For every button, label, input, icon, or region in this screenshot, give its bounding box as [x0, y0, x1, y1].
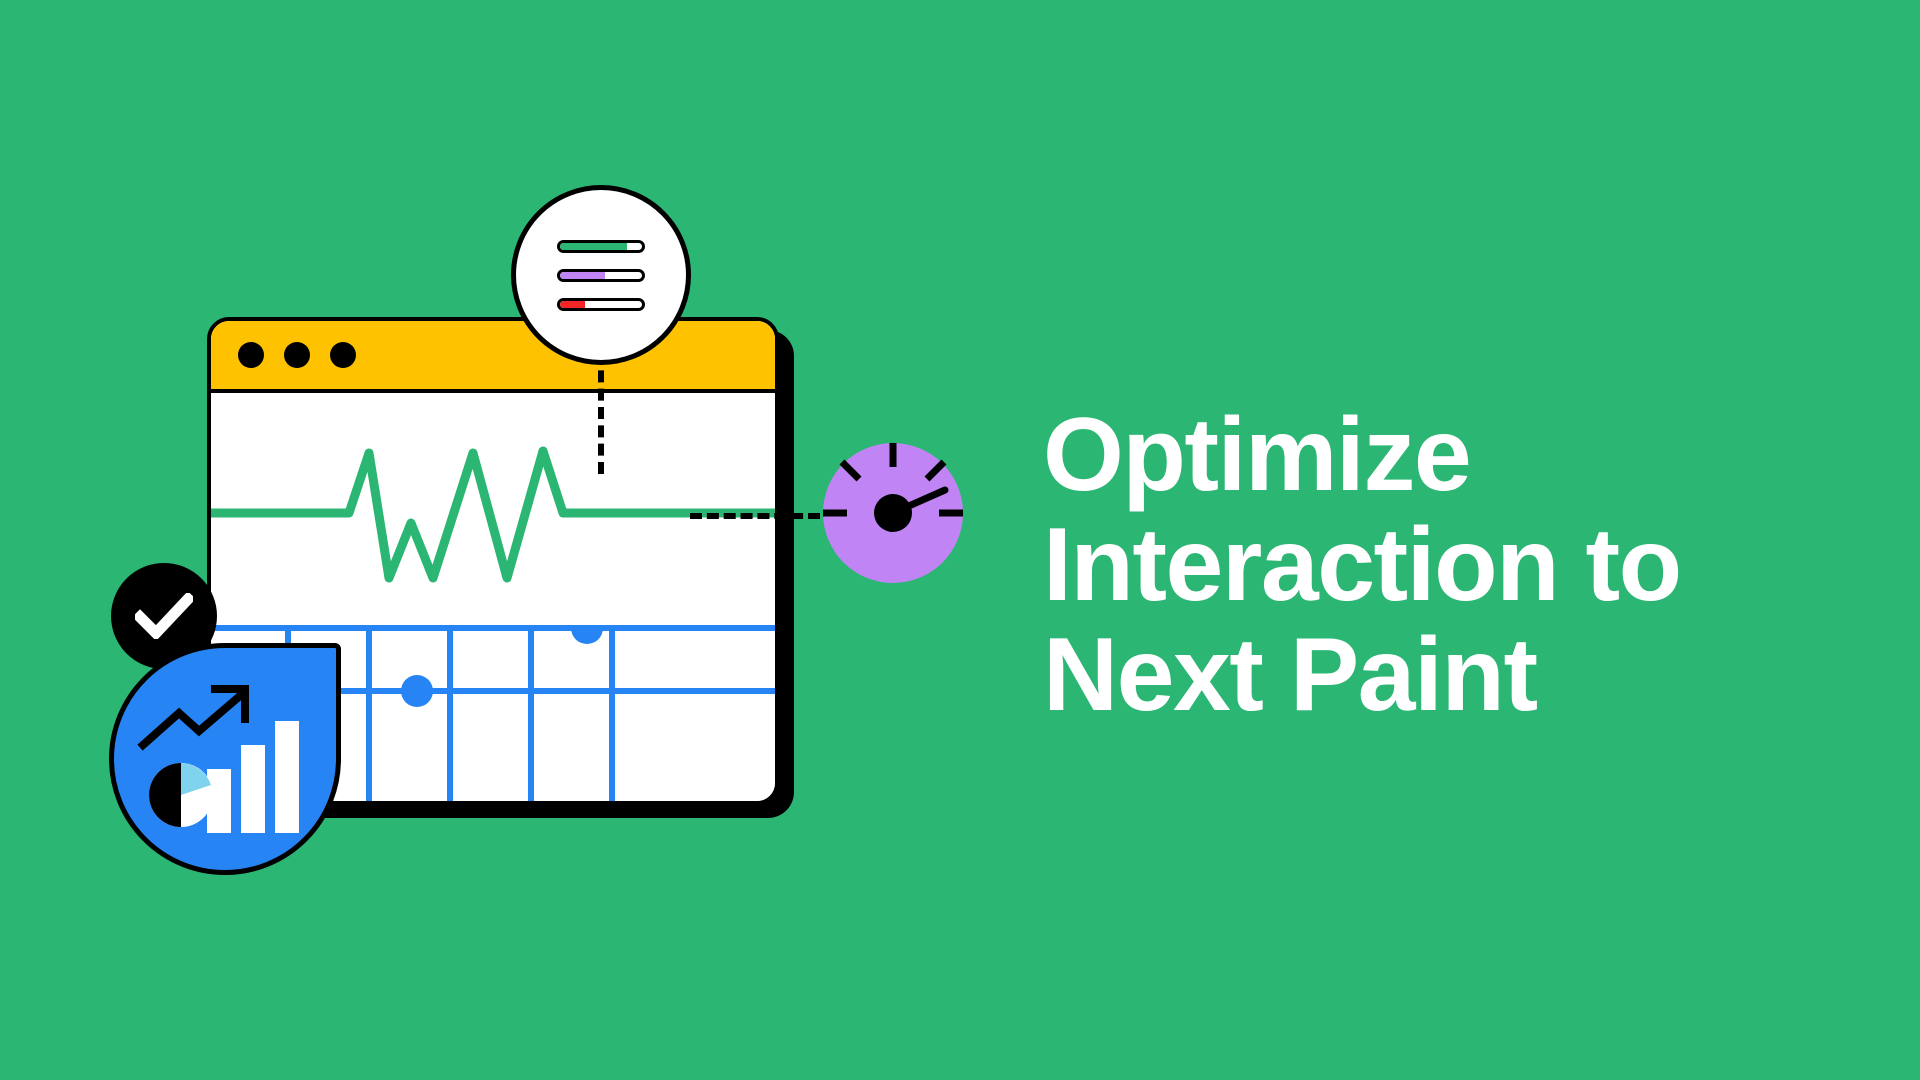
badge-to-chart-dashed-connector — [598, 352, 604, 474]
hero-illustration — [0, 0, 1000, 1080]
browser-titlebar — [211, 321, 775, 393]
analytics-badge[interactable] — [109, 643, 341, 875]
window-dot-maximize-icon[interactable] — [330, 342, 356, 368]
metrics-progress-badge[interactable] — [511, 185, 691, 365]
chart-to-gauge-dashed-connector — [690, 513, 820, 519]
analytics-bar-3 — [275, 721, 299, 833]
slice-dark — [149, 763, 181, 827]
needs-improvement-metric-bar — [557, 269, 645, 282]
check-icon — [135, 593, 193, 639]
poster-canvas: Optimize Interaction to Next Paint — [0, 0, 1920, 1080]
window-dot-minimize-icon[interactable] — [284, 342, 310, 368]
grid-marker-upper-right — [571, 625, 603, 644]
poor-metric-bar — [557, 298, 645, 311]
trending-up-arrow-icon — [143, 689, 245, 745]
analytics-icon-group — [137, 679, 313, 839]
page-title: Optimize Interaction to Next Paint — [1043, 400, 1863, 731]
good-metric-bar — [557, 240, 645, 253]
grid-marker-lower-left — [401, 675, 433, 707]
pie-chart-icon — [149, 763, 213, 827]
analytics-bar-2 — [241, 745, 265, 833]
gauge-hub — [874, 494, 912, 532]
window-dot-close-icon[interactable] — [238, 342, 264, 368]
speed-gauge[interactable] — [817, 437, 969, 589]
